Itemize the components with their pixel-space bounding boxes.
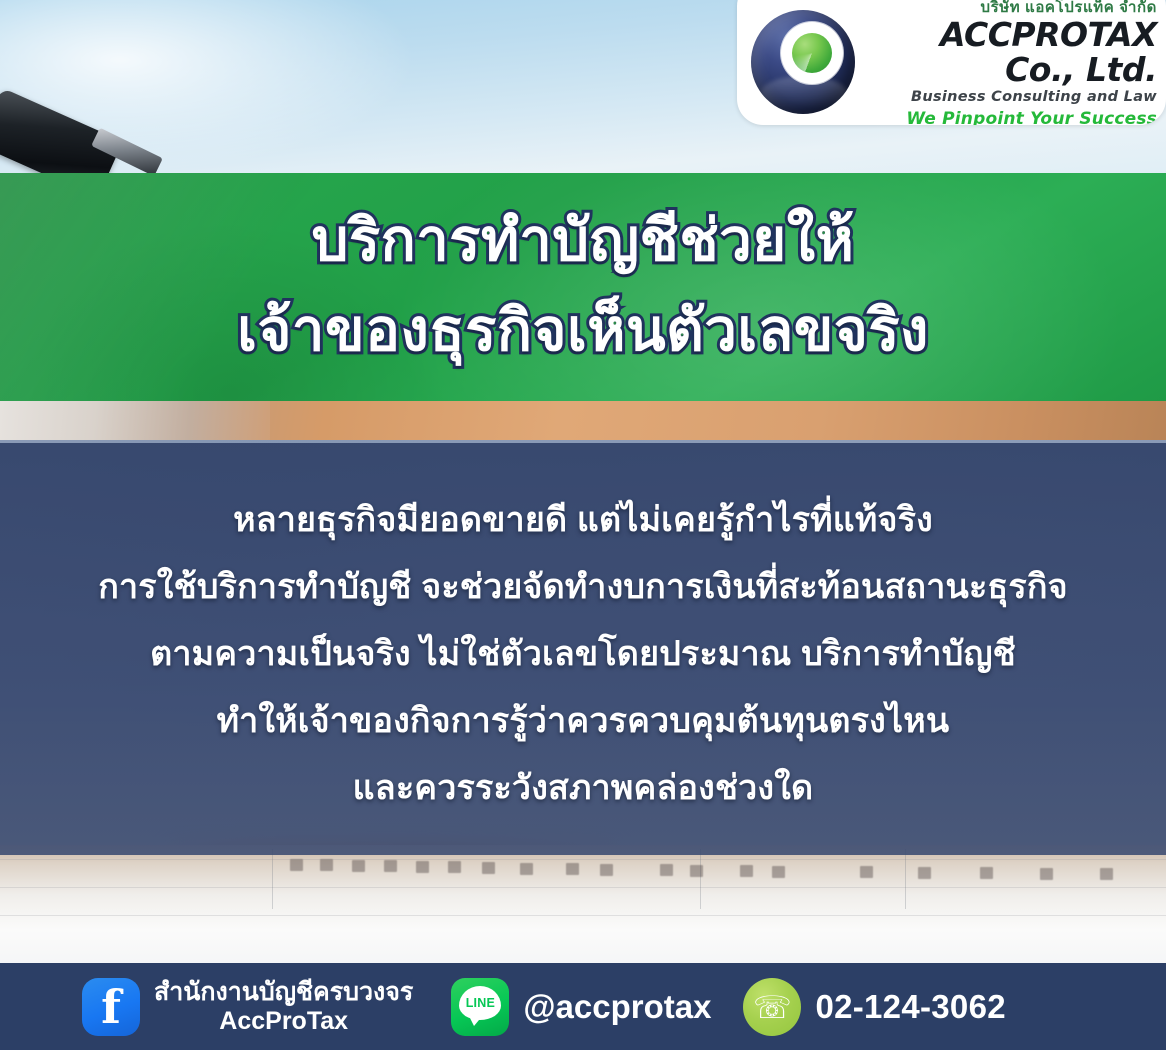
- facebook-f-glyph: f: [82, 978, 140, 1036]
- logo-company-name-english: ACCPROTAX Co., Ltd.: [867, 18, 1157, 87]
- phone-number-label: 02-124-3062: [815, 988, 1005, 1026]
- body-line-5: และควรระวังสภาพคล่องช่วงใด: [0, 755, 1166, 822]
- body-line-3: ตามความเป็นจริง ไม่ใช่ตัวเลขโดยประมาณ บร…: [0, 621, 1166, 688]
- line-icon-word: LINE: [459, 986, 501, 1020]
- contact-footer-bar: f สำนักงานบัญชีครบวงจร AccProTax LINE @a…: [0, 963, 1166, 1050]
- phone-contact[interactable]: ☏ 02-124-3062: [743, 978, 1005, 1036]
- headline-line-2: เจ้าของธุรกิจเห็นตัวเลขจริง: [0, 286, 1166, 376]
- facebook-page-name-line2: AccProTax: [154, 1007, 413, 1036]
- facebook-contact[interactable]: f สำนักงานบัญชีครบวงจร AccProTax: [82, 978, 413, 1036]
- logo-slogan: We Pinpoint Your Success: [867, 109, 1157, 125]
- logo-business-line: Business Consulting and Law: [867, 88, 1157, 107]
- body-line-4: ทำให้เจ้าของกิจการรู้ว่าควรควบคุมต้นทุนต…: [0, 688, 1166, 755]
- facebook-page-name-line1: สำนักงานบัญชีครบวงจร: [154, 978, 413, 1007]
- body-line-1: หลายธุรกิจมียอดขายดี แต่ไม่เคยรู้กำไรที่…: [0, 487, 1166, 554]
- company-logo-card: บริษัท แอคโปรแท็ค จำกัด ACCPROTAX Co., L…: [737, 0, 1166, 125]
- line-id-label: @accprotax: [523, 988, 711, 1026]
- ledger-paper-background: [0, 845, 1166, 970]
- phone-handset-glyph: ☏: [743, 978, 801, 1036]
- facebook-icon[interactable]: f: [82, 978, 140, 1036]
- promotional-poster: บริษัท แอคโปรแท็ค จำกัด ACCPROTAX Co., L…: [0, 0, 1166, 1050]
- line-icon[interactable]: LINE: [451, 978, 509, 1036]
- body-line-2: การใช้บริการทำบัญชี จะช่วยจัดทำงบการเงิน…: [0, 554, 1166, 621]
- logo-company-name-thai: บริษัท แอคโปรแท็ค จำกัด: [867, 0, 1157, 15]
- body-copy-block: หลายธุรกิจมียอดขายดี แต่ไม่เคยรู้กำไรที่…: [0, 487, 1166, 822]
- headline-line-1: บริการทำบัญชีช่วยให้: [0, 196, 1166, 286]
- line-contact[interactable]: LINE @accprotax: [451, 978, 711, 1036]
- facebook-page-name: สำนักงานบัญชีครบวงจร AccProTax: [154, 978, 413, 1036]
- headline-block: บริการทำบัญชีช่วยให้ เจ้าของธุรกิจเห็นตั…: [0, 196, 1166, 376]
- phone-icon[interactable]: ☏: [743, 978, 801, 1036]
- accprotax-sphere-logo-icon: [751, 10, 855, 114]
